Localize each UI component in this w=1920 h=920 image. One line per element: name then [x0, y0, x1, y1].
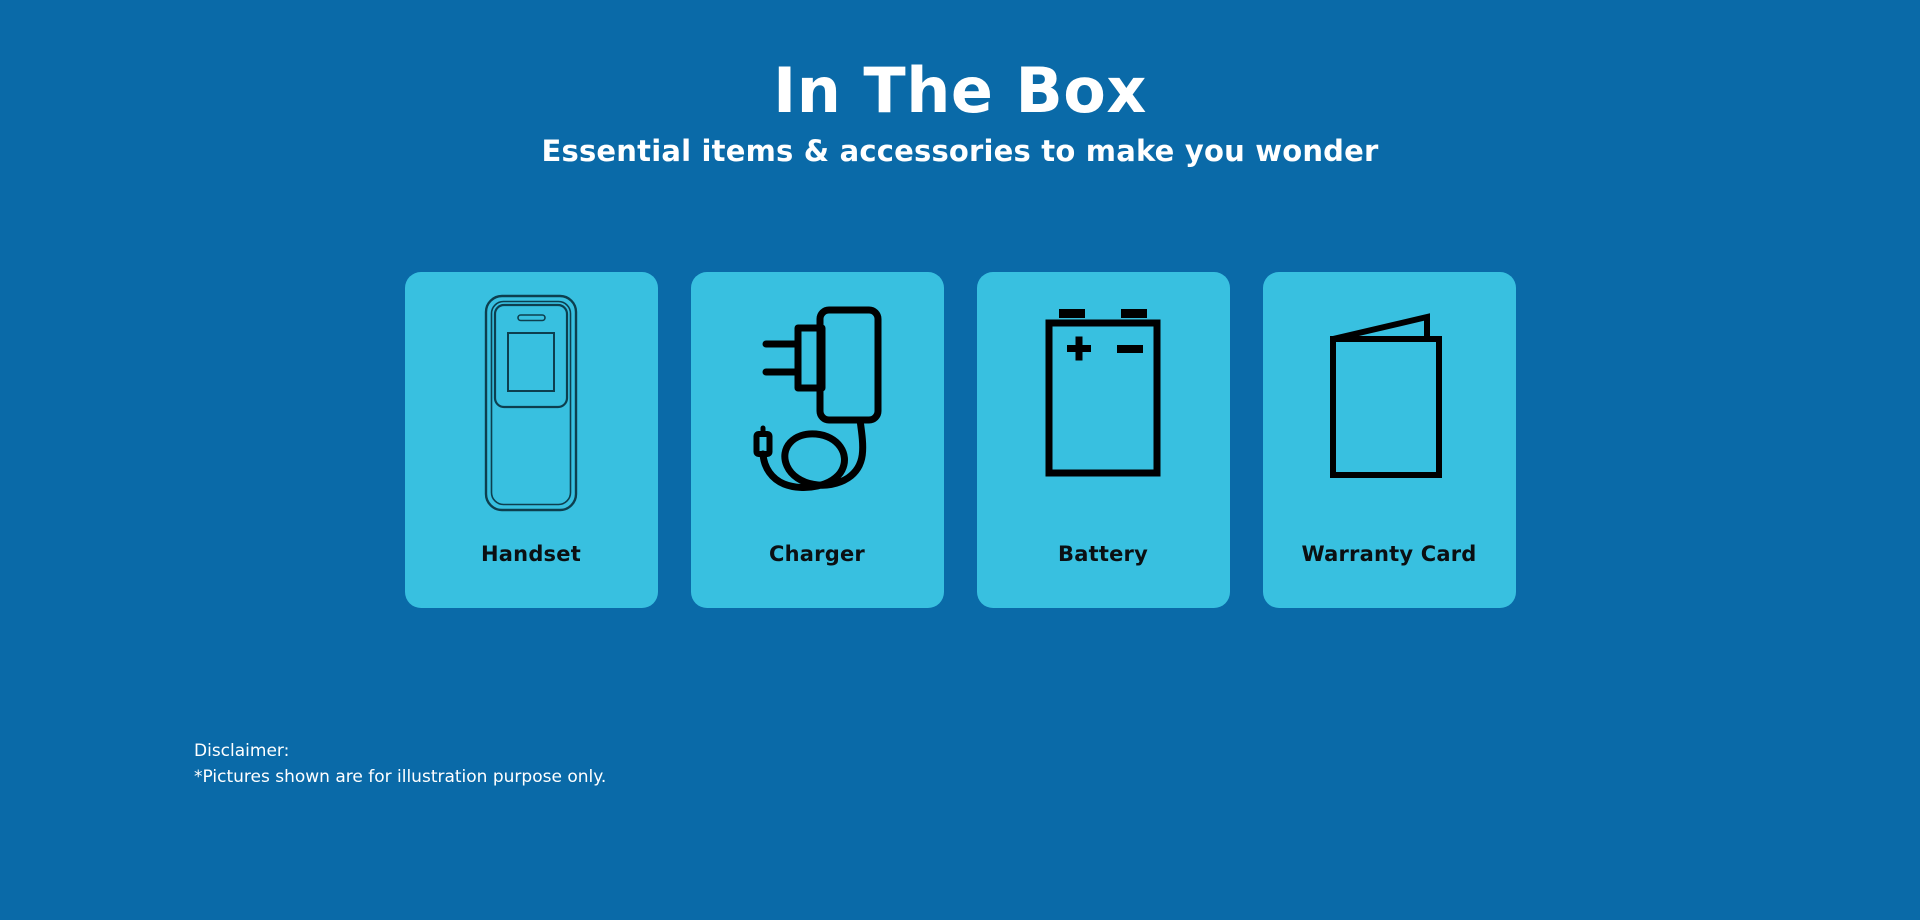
handset-icon	[431, 278, 631, 528]
page-title: In The Box	[0, 58, 1920, 125]
disclaimer-text: *Pictures shown are for illustration pur…	[194, 764, 606, 790]
box-item-card-warranty[interactable]: Warranty Card	[1263, 272, 1516, 608]
box-contents-list: Handset Charge	[0, 272, 1920, 608]
charger-icon	[717, 278, 917, 528]
box-item-card-battery[interactable]: Battery	[977, 272, 1230, 608]
box-item-label: Warranty Card	[1263, 542, 1516, 566]
disclaimer-heading: Disclaimer:	[194, 738, 606, 764]
box-item-label: Charger	[691, 542, 944, 566]
page-subtitle: Essential items & accessories to make yo…	[0, 134, 1920, 168]
in-the-box-banner: In The Box Essential items & accessories…	[0, 0, 1920, 920]
battery-icon	[1003, 278, 1203, 528]
box-item-card-charger[interactable]: Charger	[691, 272, 944, 608]
box-item-label: Battery	[977, 542, 1230, 566]
box-item-label: Handset	[405, 542, 658, 566]
banner-header: In The Box Essential items & accessories…	[0, 0, 1920, 168]
box-item-card-handset[interactable]: Handset	[405, 272, 658, 608]
disclaimer: Disclaimer: *Pictures shown are for illu…	[194, 738, 606, 791]
warranty-card-icon	[1289, 278, 1489, 528]
